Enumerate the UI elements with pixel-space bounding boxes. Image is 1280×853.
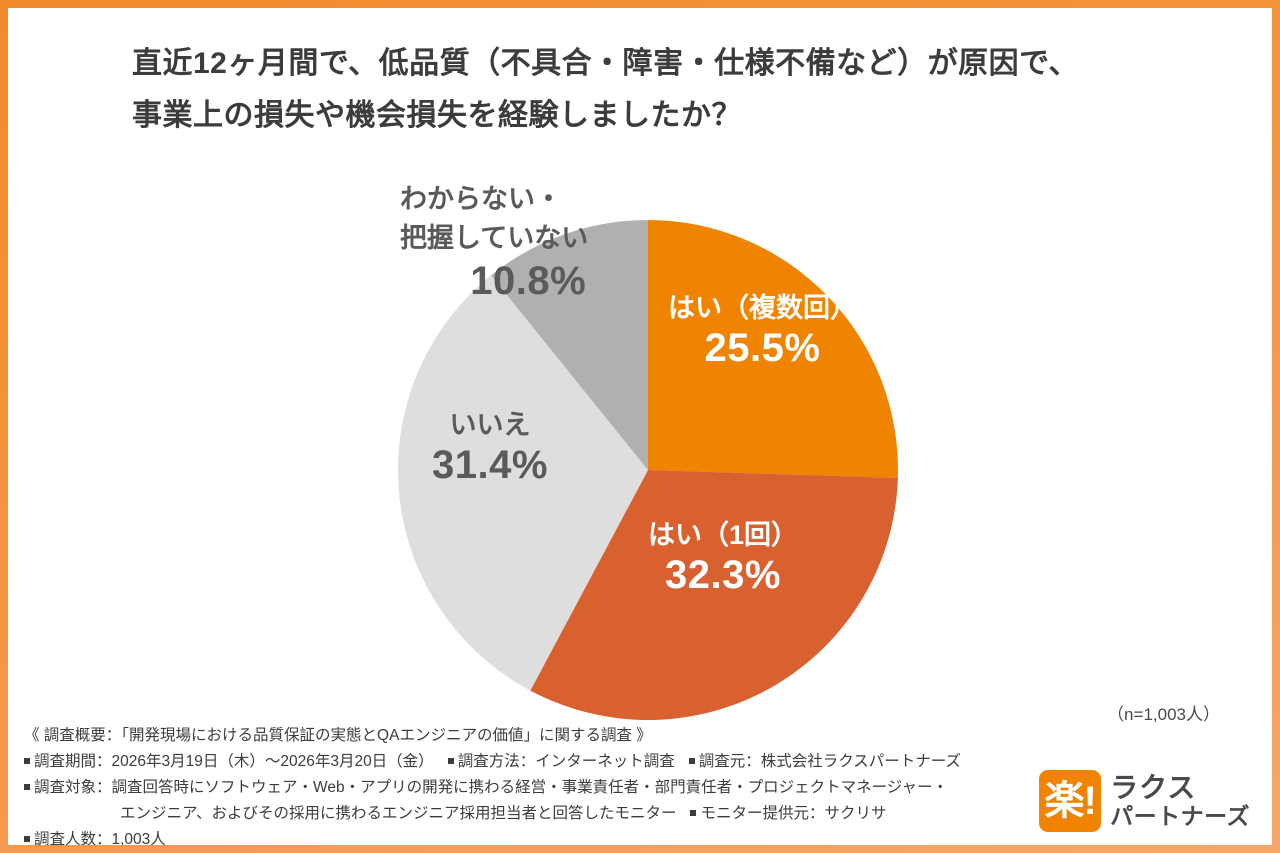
pie-label-unknown-category-line2: 把握していない [400,219,588,258]
logo-text-line1: ラクス [1110,772,1250,803]
footer-monitor-source: モニター提供元：サクリサ [700,805,886,822]
pie-label-yes-once-percent: 32.3% [648,552,798,599]
pie-label-no: いいえ 31.4% [432,410,548,489]
bullet-square-icon [690,810,696,816]
rakus-logo-mark-icon: 楽! [1039,770,1101,832]
logo-text-line2: パートナーズ [1110,804,1250,830]
pie-label-yes-once-category: はい（1回） [648,520,798,552]
footer-target-line2: エンジニア、およびその採用に携わるエンジニア採用担当者と回答したモニター [120,805,676,822]
footer-line-count: 調査人数：1,003人 [24,827,1024,845]
pie-label-yes-multiple-percent: 25.5% [668,325,857,372]
bullet-square-icon [448,758,454,764]
pie-chart: はい（複数回） 25.5% はい（1回） 32.3% いいえ 31.4% わから… [8,8,1272,845]
footer-line-target-2: エンジニア、およびその採用に携わるエンジニア採用担当者と回答したモニターモニター… [24,801,1024,827]
footer-period: 調査期間：2026年3月19日（木）～2026年3月20日（金） [34,753,434,770]
pie-label-unknown-percent: 10.8% [400,258,588,305]
pie-label-unknown: わからない・ 把握していない 10.8% [400,180,588,305]
pie-label-no-percent: 31.4% [432,442,548,489]
bullet-square-icon [689,758,695,764]
footer-source: 調査元：株式会社ラクスパートナーズ [699,753,961,770]
page-content: 直近12ヶ月間で、低品質（不具合・障害・仕様不備など）が原因で、 事業上の損失や… [8,8,1272,845]
sample-size-note: （n=1,003人） [1107,700,1220,725]
pie-label-yes-multiple: はい（複数回） 25.5% [668,293,857,372]
page-border-frame: 直近12ヶ月間で、低品質（不具合・障害・仕様不備など）が原因で、 事業上の損失や… [0,0,1280,853]
footer-respondent-count: 調査人数：1,003人 [34,831,166,845]
pie-label-yes-once: はい（1回） 32.3% [648,520,798,599]
footer-target-line1: 調査対象：調査回答時にソフトウェア・Web・アプリの開発に携わる経営・事業責任者… [34,779,948,796]
pie-label-unknown-category-line1: わからない・ [400,180,588,219]
footer-overview: 《 調査概要：「開発現場における品質保証の実態とQAエンジニアの価値」に関する調… [24,722,1024,749]
footer-line-target-1: 調査対象：調査回答時にソフトウェア・Web・アプリの開発に携わる経営・事業責任者… [24,775,1024,801]
rakus-logo-kanji: 楽! [1044,781,1095,821]
bullet-square-icon [24,784,30,790]
footer-method: 調査方法：インターネット調査 [458,753,675,770]
pie-label-yes-multiple-category: はい（複数回） [668,293,857,325]
survey-footer: 《 調査概要：「開発現場における品質保証の実態とQAエンジニアの価値」に関する調… [24,722,1024,845]
logo-wordmark: ラクス パートナーズ [1110,772,1250,829]
rakus-partners-logo[interactable]: 楽! ラクス パートナーズ [1039,770,1250,832]
bullet-square-icon [24,758,30,764]
pie-label-no-category: いいえ [432,410,548,442]
bullet-square-icon [24,836,30,842]
footer-line-period: 調査期間：2026年3月19日（木）～2026年3月20日（金）調査方法：インタ… [24,749,1024,775]
